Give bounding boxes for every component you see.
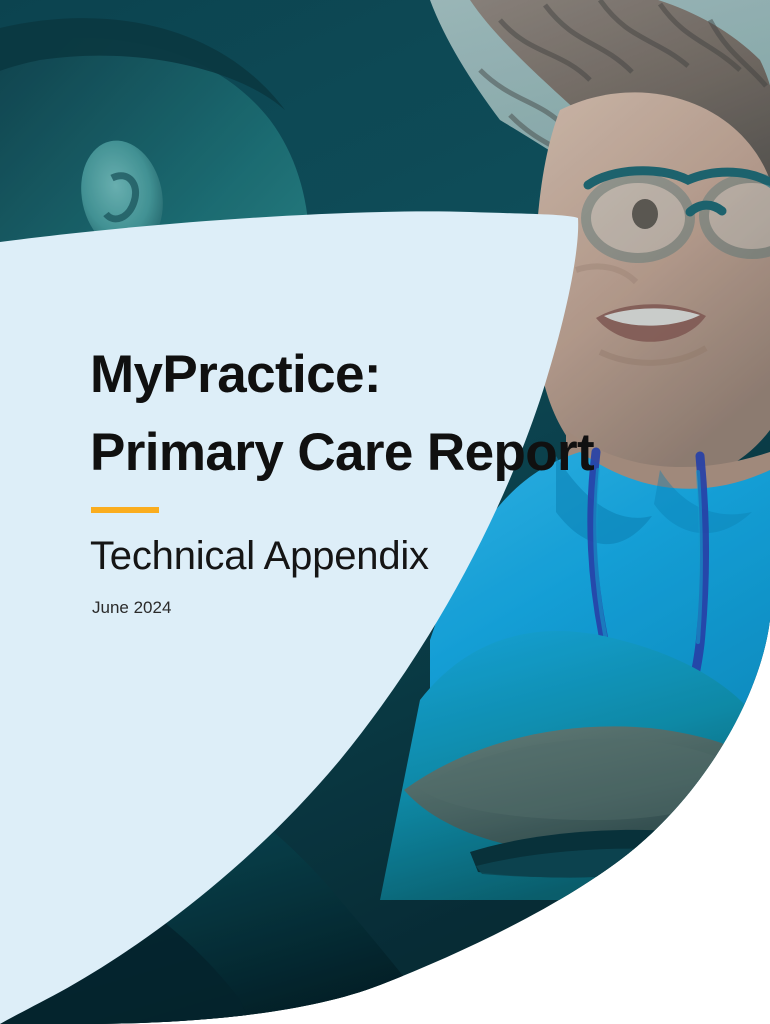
publication-date: June 2024 <box>92 598 710 618</box>
page-title-line-2: Primary Care Report <box>90 414 710 492</box>
orange-accent-rule <box>91 507 159 513</box>
report-cover-page: MyPractice: Primary Care Report Technica… <box>0 0 770 1024</box>
title-block: MyPractice: Primary Care Report Technica… <box>90 336 710 618</box>
page-subtitle: Technical Appendix <box>90 534 710 578</box>
page-title-line-1: MyPractice: <box>90 336 710 414</box>
page-title: MyPractice: Primary Care Report <box>90 336 710 492</box>
